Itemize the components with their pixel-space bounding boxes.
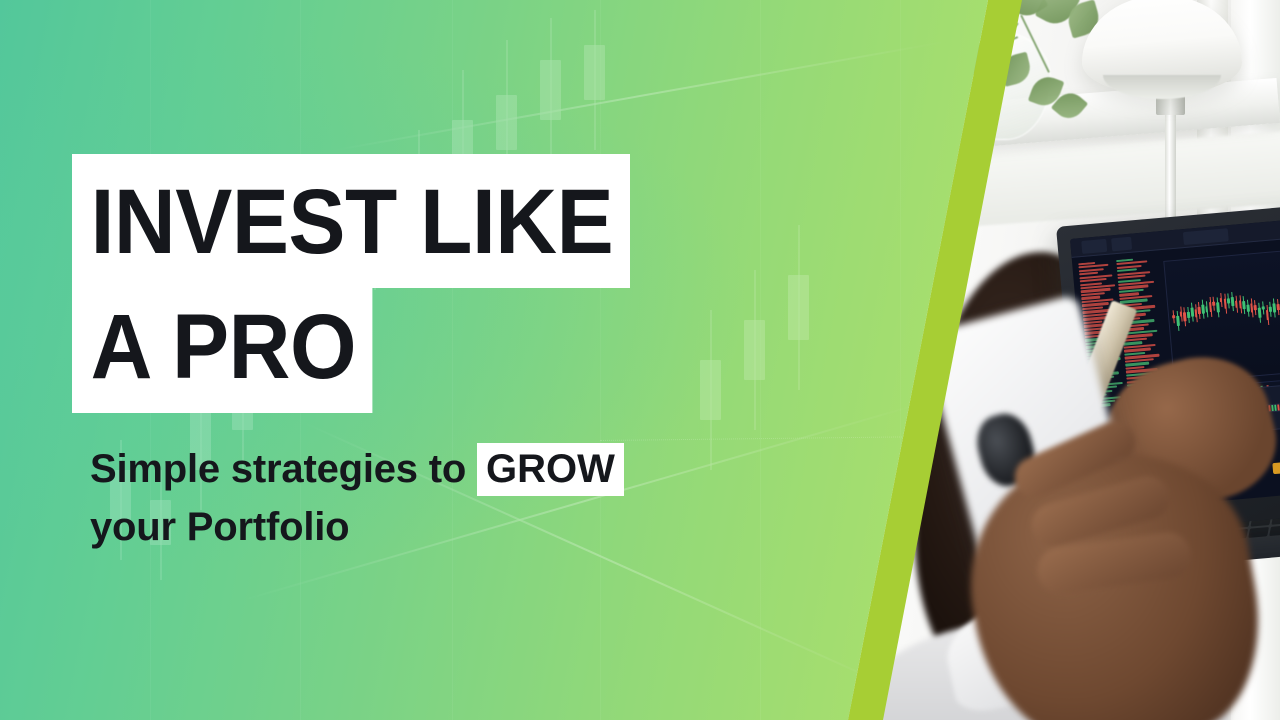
screen-candle-body xyxy=(1269,307,1272,312)
screen-candle-body xyxy=(1187,312,1190,319)
headline-line-1: INVEST LIKE xyxy=(72,154,630,288)
screen-candle-body xyxy=(1247,305,1250,312)
terminal-tab xyxy=(1081,239,1107,254)
screen-candle-body xyxy=(1227,298,1230,304)
subtitle-highlight: GROW xyxy=(477,443,624,496)
subtitle-suffix: your Portfolio xyxy=(90,505,349,549)
screen-candle-body xyxy=(1276,304,1279,310)
screen-candle-body xyxy=(1212,302,1215,306)
screen-candle-body xyxy=(1194,309,1197,317)
screen-candle-body xyxy=(1205,306,1208,312)
screen-candle-body xyxy=(1180,312,1183,317)
screen-candle-body xyxy=(1201,304,1204,313)
screen-candle-body xyxy=(1262,306,1265,309)
headline-line-2: A PRO xyxy=(72,281,373,413)
keyboard-key[interactable] xyxy=(1248,527,1268,538)
screen-candle-body xyxy=(1242,301,1245,310)
screen-candle-body xyxy=(1190,308,1193,317)
screen-candle-body xyxy=(1172,315,1175,318)
banner-root: INVEST LIKE A PRO Simple strategies to G… xyxy=(0,0,1280,720)
screen-candle-body xyxy=(1176,316,1179,326)
subtitle: Simple strategies to GROW your Portfolio xyxy=(90,440,790,556)
screen-candle-body xyxy=(1231,297,1234,306)
keyboard-key[interactable] xyxy=(1269,525,1280,536)
screen-candle-body xyxy=(1254,305,1257,310)
screen-candle-body xyxy=(1235,301,1238,308)
screen-candle-body xyxy=(1220,298,1223,302)
screen-candle-body xyxy=(1198,307,1201,315)
order-button[interactable] xyxy=(1273,458,1280,474)
subtitle-prefix: Simple strategies to xyxy=(90,447,477,491)
terminal-tab xyxy=(1112,237,1132,251)
screen-candle-body xyxy=(1216,302,1219,312)
copy-block: INVEST LIKE A PRO Simple strategies to G… xyxy=(0,0,820,720)
